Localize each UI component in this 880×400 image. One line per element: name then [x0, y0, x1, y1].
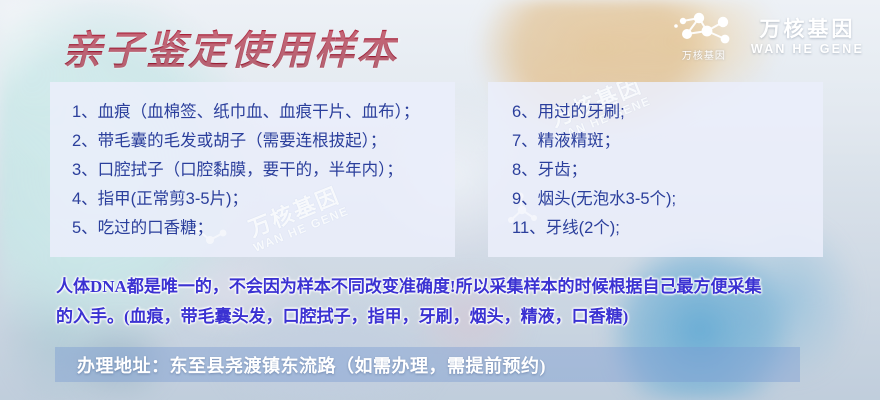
sample-list-panel-left: 万核基因 WAN HE GENE 1、血痕（血棉签、纸巾血、血痕干片、血布）； …	[50, 82, 455, 257]
list-item: 9、烟头(无泡水3-5个);	[512, 185, 823, 214]
promo-banner: 亲子鉴定使用样本	[0, 0, 880, 400]
logo-mark: 万核基因	[671, 12, 737, 62]
brand-name-cn: 万核基因	[759, 18, 855, 42]
address-bar: 办理地址：东至县尧渡镇东流路（如需办理，需提前预约)	[55, 347, 800, 382]
brand-wordmark: 万核基因 WAN HE GENE	[751, 18, 864, 57]
logo-mark-caption: 万核基因	[682, 47, 726, 62]
sample-list-right: 6、用过的牙刷; 7、精液精斑； 8、牙齿； 9、烟头(无泡水3-5个); 11…	[488, 82, 823, 243]
list-item: 4、指甲(正常剪3-5片)；	[72, 185, 455, 214]
list-item: 1、血痕（血棉签、纸巾血、血痕干片、血布）；	[72, 98, 455, 127]
info-paragraph: 人体DNA都是唯一的，不会因为样本不同改变准确度!所以采集样本的时候根据自己最方…	[56, 272, 856, 332]
list-item: 8、牙齿；	[512, 156, 823, 185]
brand-logo: 万核基因 万核基因 WAN HE GENE	[671, 12, 864, 62]
info-paragraph-line-1: 人体DNA都是唯一的，不会因为样本不同改变准确度!所以采集样本的时候根据自己最方…	[56, 272, 856, 302]
page-title: 亲子鉴定使用样本	[62, 18, 398, 76]
list-item: 2、带毛囊的毛发或胡子（需要连根拔起）；	[72, 127, 455, 156]
molecule-node-icon	[673, 12, 735, 46]
sample-list-panel-right: 万核基因 WAN HE GENE 6、用过的牙刷; 7、精液精斑； 8、牙齿； …	[488, 82, 823, 257]
list-item: 7、精液精斑；	[512, 127, 823, 156]
info-paragraph-line-2: 的入手。(血痕，带毛囊头发，口腔拭子，指甲，牙刷，烟头，精液，口香糖)	[56, 302, 856, 332]
sample-list-left: 1、血痕（血棉签、纸巾血、血痕干片、血布）； 2、带毛囊的毛发或胡子（需要连根拔…	[50, 82, 455, 243]
list-item: 6、用过的牙刷;	[512, 98, 823, 127]
list-item: 5、吃过的口香糖；	[72, 214, 455, 243]
brand-name-en: WAN HE GENE	[751, 42, 864, 56]
list-item: 3、口腔拭子（口腔黏膜，要干的，半年内）；	[72, 156, 455, 185]
list-item: 11、牙线(2个);	[512, 214, 823, 243]
address-text: 办理地址：东至县尧渡镇东流路（如需办理，需提前预约)	[55, 352, 546, 378]
